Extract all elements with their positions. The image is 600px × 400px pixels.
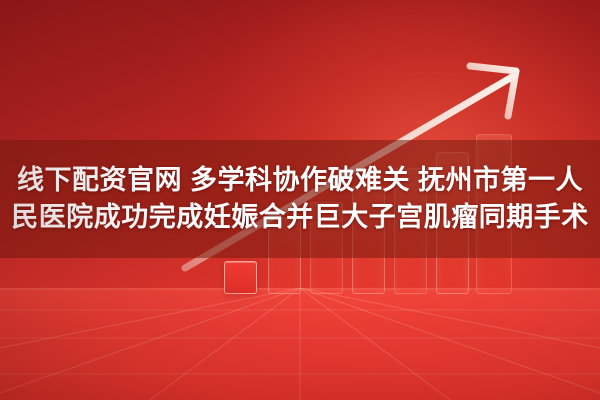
floor-horizon-line [0,288,600,291]
headline-line-1: 线下配资官网 多学科协作破难关 抚州市第一人 [17,164,583,197]
perspective-grid-floor [0,288,600,400]
headline-line-2: 民医院成功完成妊娠合并巨大子宫肌瘤同期手术 [11,201,589,234]
headline: 线下配资官网 多学科协作破难关 抚州市第一人 民医院成功完成妊娠合并巨大子宫肌瘤… [0,140,600,258]
banner-image: 线下配资官网 多学科协作破难关 抚州市第一人 民医院成功完成妊娠合并巨大子宫肌瘤… [0,0,600,400]
